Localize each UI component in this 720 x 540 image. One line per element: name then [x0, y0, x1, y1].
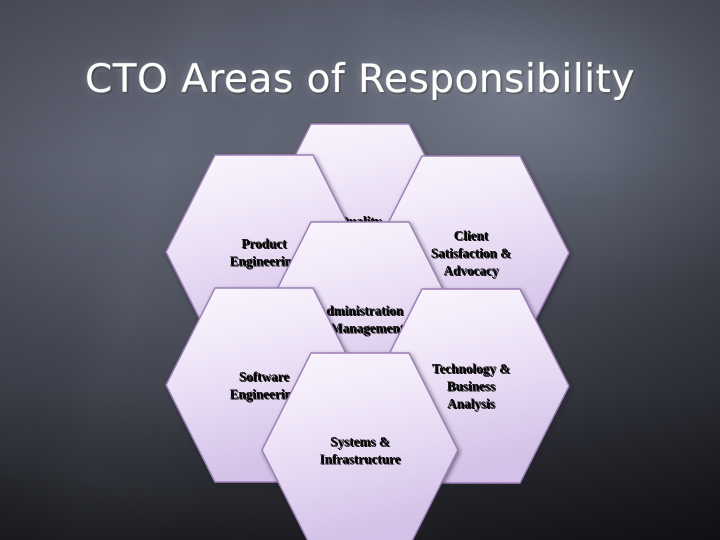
hexagon-diagram-svg: QualityQualityProductEngineeringProductE…: [0, 0, 720, 540]
hexagon-diagram: QualityQualityProductEngineeringProductE…: [0, 0, 720, 540]
slide-canvas: CTO Areas of Responsibility QualityQuali…: [0, 0, 720, 540]
